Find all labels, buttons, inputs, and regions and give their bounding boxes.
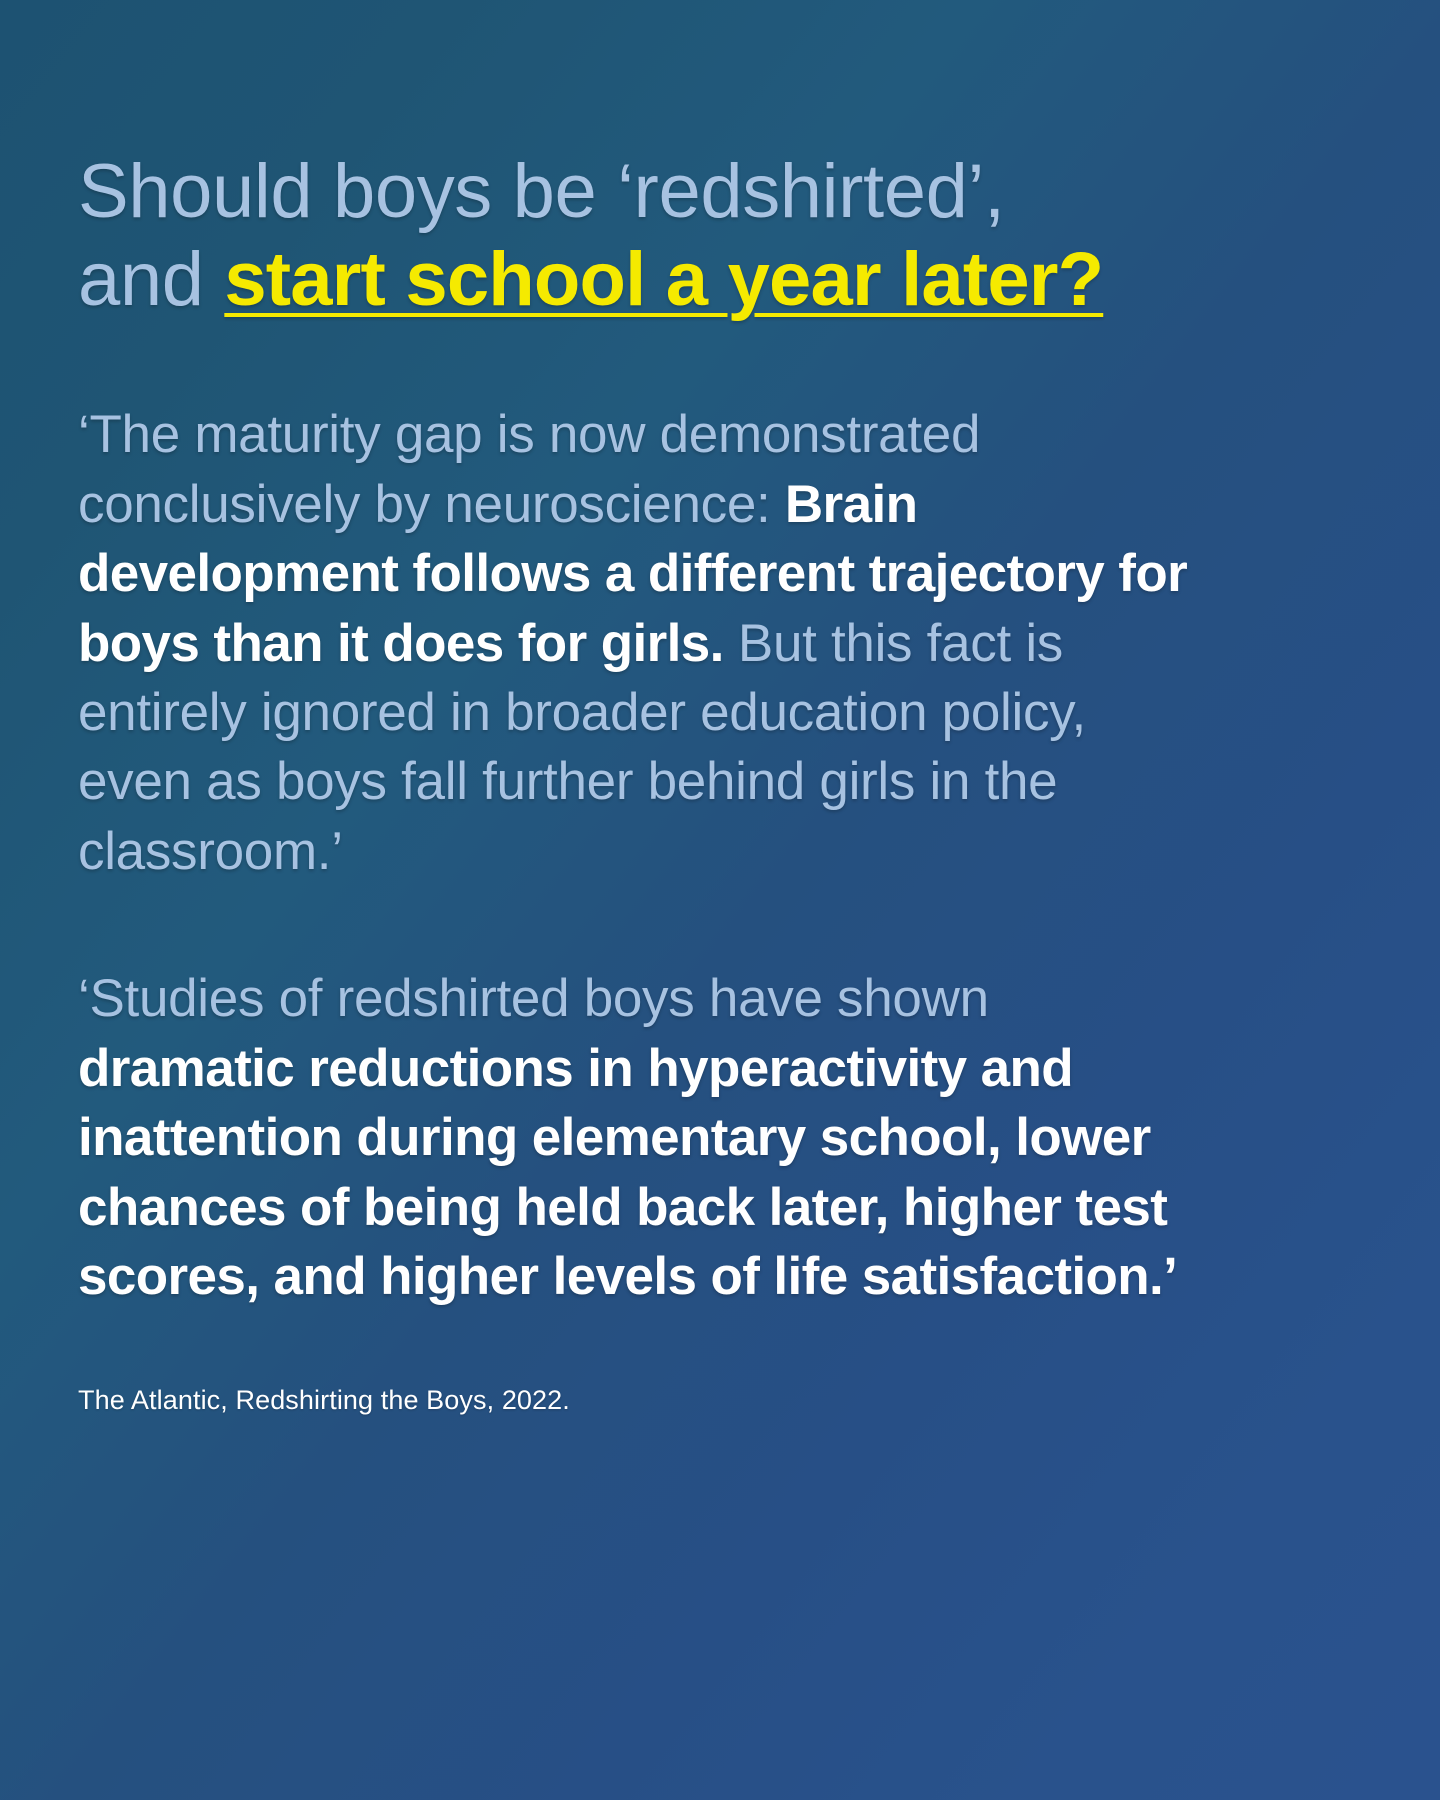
quote-two-segment-intro: ‘Studies of redshirted boys have shown: [78, 969, 989, 1028]
headline-lead: Should boys be ‘redshirted’,: [78, 149, 1005, 234]
source-attribution: The Atlantic, Redshirting the Boys, 2022…: [78, 1311, 1362, 1418]
headline-connector: and: [78, 237, 224, 322]
headline-accent-link[interactable]: start school a year later?: [224, 237, 1103, 322]
page-title: Should boys be ‘redshirted’,and start sc…: [78, 0, 1198, 324]
quote-block-two: ‘Studies of redshirted boys have shown d…: [78, 964, 1188, 1311]
poster-canvas: Should boys be ‘redshirted’,and start sc…: [0, 0, 1440, 1800]
quote-two-segment-emphasis: dramatic reductions in hyperactivity and…: [78, 1039, 1177, 1306]
quote-block-one: ‘The maturity gap is now demonstrated co…: [78, 400, 1188, 886]
